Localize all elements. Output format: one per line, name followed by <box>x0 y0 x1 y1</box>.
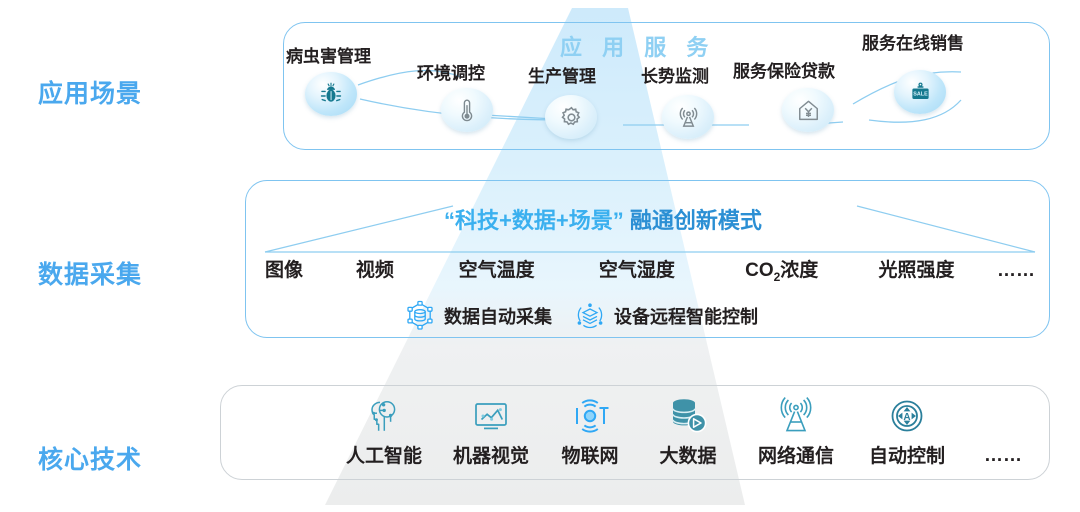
data-item-row: 图像 视频 空气温度 空气湿度 CO2浓度 光照强度 …… <box>265 255 1035 284</box>
machine-vision-icon <box>470 396 512 438</box>
house-yuan-icon <box>796 98 821 123</box>
tech-label-big-data: 大数据 <box>659 441 716 468</box>
tech-item-network[interactable]: 网络通信 <box>740 392 852 468</box>
svg-text:A: A <box>903 412 910 423</box>
node-label-online-sales: 服务在线销售 <box>862 29 964 54</box>
network-antenna-icon <box>774 396 818 438</box>
gear-icon-bubble <box>545 95 597 139</box>
data-title-main: 科技+数据+场景 <box>455 208 613 233</box>
signal-tower-icon <box>676 105 701 130</box>
infographic-canvas: 应用场景 数据采集 核心技术 应 用 服 务 病虫害管理 <box>0 0 1080 512</box>
node-label-pest-management: 病虫害管理 <box>286 42 371 67</box>
node-label-insurance-loan: 服务保险贷款 <box>733 57 835 82</box>
thermometer-icon-bubble <box>441 88 493 132</box>
data-title-quote-close: ” <box>613 208 624 233</box>
data-title-tail: 融通创新模式 <box>630 208 762 233</box>
data-item-air-temp: 空气温度 <box>459 255 599 282</box>
thermometer-icon <box>455 97 479 123</box>
tech-label-ai: 人工智能 <box>346 441 422 468</box>
tech-label-machine-vision: 机器视觉 <box>453 441 529 468</box>
house-yuan-icon-bubble <box>782 88 834 132</box>
data-item-air-humidity: 空气湿度 <box>599 255 745 282</box>
ai-brain-icon <box>363 396 405 438</box>
data-feature-auto-collect[interactable]: 数据自动采集 <box>404 300 552 332</box>
signal-tower-icon-bubble <box>662 95 714 139</box>
iot-icon <box>568 396 612 438</box>
svg-text:SALE: SALE <box>913 91 928 97</box>
tech-item-iot[interactable]: 物联网 <box>544 392 636 468</box>
tech-label-auto-control: 自动控制 <box>869 441 945 468</box>
tech-item-ai[interactable]: 人工智能 <box>330 392 438 468</box>
tech-item-big-data[interactable]: 大数据 <box>636 392 740 468</box>
tech-item-machine-vision[interactable]: 机器视觉 <box>438 392 544 468</box>
layers-sync-icon <box>574 300 606 332</box>
co2-prefix: CO <box>745 260 774 281</box>
auto-control-icon: A <box>886 396 928 438</box>
data-item-light: 光照强度 <box>878 255 997 282</box>
data-feature-label-auto-collect: 数据自动采集 <box>444 303 552 329</box>
node-label-growth-monitoring: 长势监测 <box>641 62 709 87</box>
node-label-environment-control: 环境调控 <box>417 59 485 84</box>
iot-icon-wrap <box>568 392 612 438</box>
data-feature-label-remote-control: 设备远程智能控制 <box>614 303 758 329</box>
tech-label-iot: 物联网 <box>561 441 618 468</box>
sale-tag-icon: SALE <box>908 80 933 105</box>
tech-ellipsis: …… <box>984 445 1022 468</box>
data-item-co2: CO2浓度 <box>745 255 878 284</box>
technology-item-row: 人工智能 机器视觉 <box>330 392 1030 468</box>
big-data-icon <box>666 396 710 438</box>
tech-item-auto-control[interactable]: A 自动控制 <box>852 392 962 468</box>
data-title-quote-open: “ <box>444 208 455 233</box>
tech-label-network: 网络通信 <box>758 441 834 468</box>
data-item-ellipsis: …… <box>997 260 1035 282</box>
co2-suffix: 浓度 <box>780 260 818 281</box>
machine-vision-icon-wrap <box>470 392 512 438</box>
node-label-production-management: 生产管理 <box>528 62 596 87</box>
gear-icon <box>559 105 584 130</box>
data-feature-row: 数据自动采集 设备远程智能控制 <box>404 300 758 332</box>
network-antenna-icon-wrap <box>774 392 818 438</box>
row-label-data: 数据采集 <box>38 255 142 291</box>
big-data-icon-wrap <box>666 392 710 438</box>
data-feature-remote-control[interactable]: 设备远程智能控制 <box>574 300 758 332</box>
auto-control-icon-wrap: A <box>886 392 928 438</box>
ai-brain-icon-wrap <box>363 392 405 438</box>
sale-tag-icon-bubble: SALE <box>894 70 946 114</box>
data-item-video: 视频 <box>356 255 459 282</box>
database-network-icon <box>404 300 436 332</box>
bug-icon <box>318 81 344 107</box>
row-label-application: 应用场景 <box>38 74 142 110</box>
row-label-technology: 核心技术 <box>38 440 142 476</box>
data-panel-title: “科技+数据+场景” 融通创新模式 <box>444 203 762 235</box>
data-item-image: 图像 <box>265 255 356 282</box>
application-service-title: 应 用 服 务 <box>560 30 715 62</box>
bug-icon-bubble <box>305 72 357 116</box>
